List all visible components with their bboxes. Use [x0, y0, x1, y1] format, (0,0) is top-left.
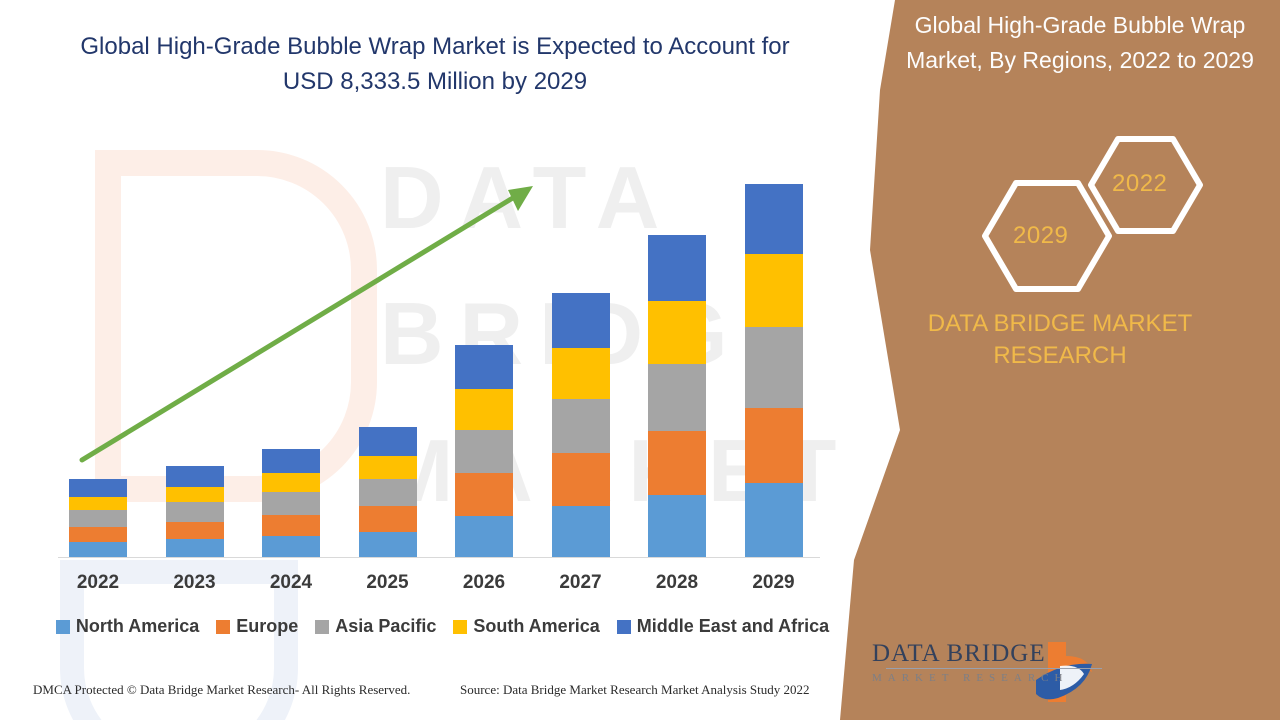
hexagon-2029-label: 2029	[1013, 222, 1068, 250]
hexagon-badges: 2022 2029	[968, 125, 1228, 300]
legend-label: South America	[473, 616, 599, 637]
footer-source: Source: Data Bridge Market Research Mark…	[460, 682, 809, 698]
legend-label: Middle East and Africa	[637, 616, 829, 637]
legend-item[interactable]: South America	[453, 616, 599, 637]
legend-item[interactable]: North America	[56, 616, 199, 637]
logo-divider	[886, 668, 1102, 669]
brand-name: DATA BRIDGE MARKET RESEARCH	[860, 308, 1260, 373]
legend-item[interactable]: Europe	[216, 616, 298, 637]
legend-label: North America	[76, 616, 199, 637]
growth-arrow	[0, 0, 860, 720]
legend-swatch-icon	[453, 620, 467, 634]
footer-copyright: DMCA Protected © Data Bridge Market Rese…	[33, 682, 410, 698]
panel-title: Global High-Grade Bubble Wrap Market, By…	[880, 8, 1280, 77]
infographic-canvas: DATA BRIDGE MARKET RESEARCH Global High-…	[0, 0, 1280, 720]
chart-legend: North AmericaEuropeAsia PacificSouth Ame…	[56, 616, 846, 637]
legend-swatch-icon	[617, 620, 631, 634]
hexagon-2022-label: 2022	[1112, 170, 1167, 198]
legend-item[interactable]: Middle East and Africa	[617, 616, 829, 637]
legend-swatch-icon	[56, 620, 70, 634]
legend-label: Europe	[236, 616, 298, 637]
legend-swatch-icon	[216, 620, 230, 634]
legend-item[interactable]: Asia Pacific	[315, 616, 436, 637]
logo-wordmark: DATA BRIDGE	[872, 640, 1102, 668]
legend-label: Asia Pacific	[335, 616, 436, 637]
legend-swatch-icon	[315, 620, 329, 634]
stacked-bar-chart: 20222023202420252026202720282029	[0, 0, 860, 720]
logo-tagline: MARKET RESEARCH	[872, 672, 1102, 684]
